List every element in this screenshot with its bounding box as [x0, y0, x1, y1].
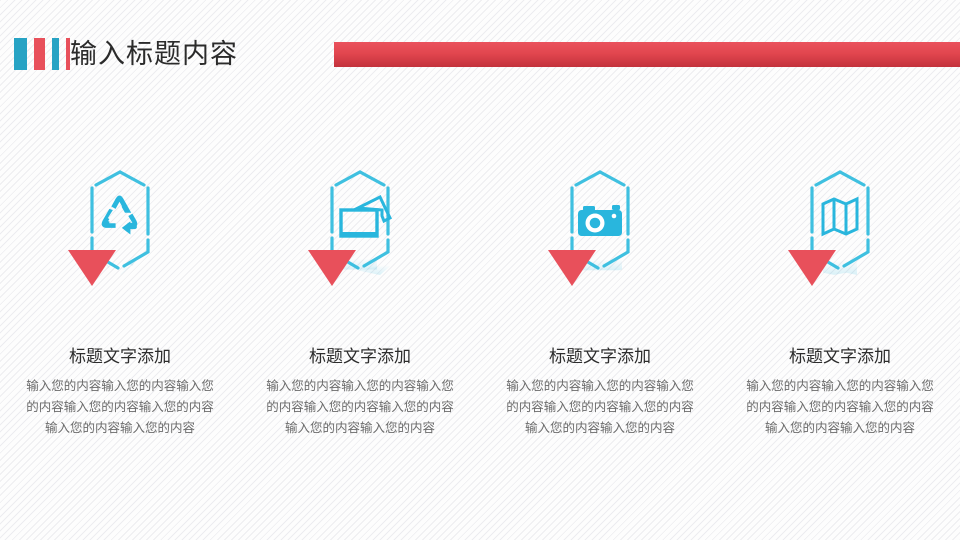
feature-column-4[interactable]: 标题文字添加 输入您的内容输入您的内容输入您的内容输入您的内容输入您的内容输入您… [720, 160, 960, 500]
camera-icon [578, 205, 622, 236]
hexagon-badge-4 [760, 160, 920, 310]
icon-stage-4 [760, 160, 920, 310]
feature-column-2[interactable]: 标题文字添加 输入您的内容输入您的内容输入您的内容输入您的内容输入您的内容输入您… [240, 160, 480, 500]
feature-body-1: 输入您的内容输入您的内容输入您的内容输入您的内容输入您的内容输入您的内容输入您的… [25, 376, 215, 439]
hexagon-badge-2 [280, 160, 440, 310]
feature-title-3: 标题文字添加 [549, 346, 651, 368]
icon-stage-2 [280, 160, 440, 310]
hexagon-badge-3 [520, 160, 680, 310]
slide-canvas: 输入标题内容 [0, 0, 960, 540]
feature-column-1[interactable]: 标题文字添加 输入您的内容输入您的内容输入您的内容输入您的内容输入您的内容输入您… [0, 160, 240, 500]
accent-bar-blue-medium [52, 38, 59, 70]
photos-icon [341, 197, 390, 236]
feature-title-2: 标题文字添加 [309, 346, 411, 368]
feature-body-3: 输入您的内容输入您的内容输入您的内容输入您的内容输入您的内容输入您的内容输入您的… [505, 376, 695, 439]
feature-columns: 标题文字添加 输入您的内容输入您的内容输入您的内容输入您的内容输入您的内容输入您… [0, 160, 960, 500]
red-triangle-icon [68, 250, 116, 286]
accent-bar-group [14, 38, 70, 70]
hexagon-badge-1 [40, 160, 200, 310]
header-red-rule [334, 42, 960, 67]
map-icon [823, 199, 857, 234]
page-title: 输入标题内容 [70, 37, 238, 71]
feature-body-2: 输入您的内容输入您的内容输入您的内容输入您的内容输入您的内容输入您的内容输入您的… [265, 376, 455, 439]
feature-title-1: 标题文字添加 [69, 346, 171, 368]
accent-bar-blue-wide [14, 38, 27, 70]
feature-body-4: 输入您的内容输入您的内容输入您的内容输入您的内容输入您的内容输入您的内容输入您的… [745, 376, 935, 439]
feature-title-4: 标题文字添加 [789, 346, 891, 368]
accent-bar-red-wide [34, 38, 45, 70]
slide-header: 输入标题内容 [0, 18, 960, 60]
icon-stage-3 [520, 160, 680, 310]
recycle-icon [102, 196, 138, 235]
icon-reflection [823, 260, 857, 275]
feature-column-3[interactable]: 标题文字添加 输入您的内容输入您的内容输入您的内容输入您的内容输入您的内容输入您… [480, 160, 720, 500]
icon-stage-1 [40, 160, 200, 310]
